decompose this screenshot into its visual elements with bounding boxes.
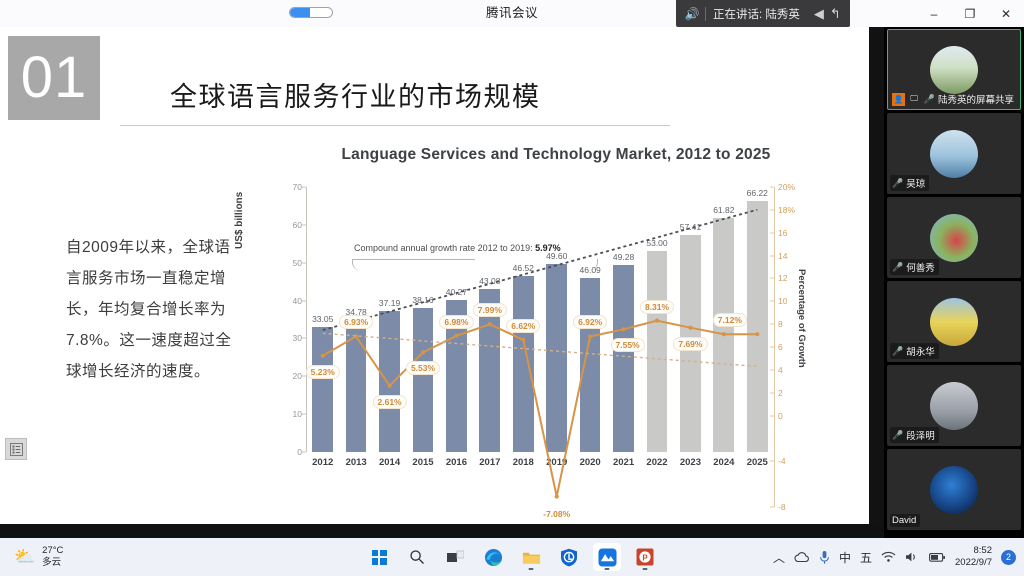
growth-label-2020: 6.92% [573,315,607,329]
chart-plot-area: 010203040506070 -8-4024681012141618%20% … [306,187,774,452]
clock-date: 2022/9/7 [955,557,992,569]
chart-title: Language Services and Technology Market,… [296,146,816,164]
growth-point-2015 [421,350,425,354]
growth-label-2022: 8.31% [640,300,674,314]
stage-bottom-strip [0,524,884,538]
powerpoint-icon: P [636,548,654,566]
cloud-icon[interactable] [794,551,810,563]
participant-name-badge: 🎤何善秀 [890,259,939,275]
growth-label-2018: 6.62% [506,319,540,333]
titlebar-progress [289,7,333,18]
growth-point-2014 [387,384,391,388]
titlebar-progress-fill [290,8,310,17]
avatar [930,298,978,346]
growth-point-2020 [588,334,592,338]
growth-label-2012: 5.23% [306,365,340,379]
growth-point-2022 [655,319,659,323]
microphone-active-icon: 🔊 [682,5,702,23]
microphone-muted-icon: 🎤 [892,178,903,189]
svg-text:P: P [642,553,648,562]
microphone-muted-icon: 🎤 [892,262,903,273]
speaker-glyph [905,551,920,563]
ime-mode-indicator[interactable]: 中 [839,549,851,566]
y-axis-label-right: Percentage of Growth [796,269,807,368]
running-indicator [529,568,534,570]
notification-badge[interactable]: 2 [1001,550,1016,565]
growth-label-2014: 2.61% [373,395,407,409]
growth-point-2019 [555,494,559,498]
folder-icon [522,549,541,566]
shield-icon [560,548,578,567]
speaker-nav-arrows[interactable]: ◀ ↰ [814,7,850,21]
avatar [930,46,978,94]
microphone-glyph [819,550,830,565]
powerpoint-button[interactable]: P [631,543,659,571]
ime-extra-indicator[interactable]: 五 [860,549,872,566]
participant-tile-0[interactable]: 👤🖵🎤陆秀英的屏幕共享 [887,29,1021,110]
right-tick-label: 12 [778,273,787,283]
avatar [930,466,978,514]
growth-label-2023: 7.69% [673,337,707,351]
slide-title: 全球语言服务行业的市场规模 [170,75,541,114]
microphone-icon: 🎤 [924,94,935,105]
slide-list-toggle-button[interactable] [5,438,27,460]
partly-cloudy-icon: ⛅ [14,547,35,567]
taskbar-app-buttons: P [365,543,659,571]
y-tick-label: 40 [293,296,302,306]
tray-expand-chevron-icon[interactable]: ︿ [773,549,785,566]
stage-side-strip [869,27,884,524]
y-tick-label: 50 [293,258,302,268]
app-title: 腾讯会议 [0,0,1024,27]
market-size-chart: Language Services and Technology Market,… [262,139,822,524]
presentation-slide: 01 全球语言服务行业的市场规模 自2009年以来，全球语言服务市场一直稳定增长… [0,27,869,524]
participant-tile-5[interactable]: David [887,449,1021,530]
cagr-brace [352,259,598,271]
growth-point-2018 [521,338,525,342]
cagr-value: 5.97% [535,243,561,253]
section-number-badge: 01 [8,36,100,120]
slide-body-text: 自2009年以来，全球语言服务市场一直稳定增长，年均复合增长率为7.8%。这一速… [66,232,246,387]
speaker-icon[interactable] [905,551,920,563]
security-button[interactable] [555,543,583,571]
growth-point-2012 [321,354,325,358]
growth-label-2024: 7.12% [713,313,747,327]
screen-root: 腾讯会议 🔊 正在讲话: 陆秀英 ◀ ↰ – ❐ ✕ 01 全球语言服务行业的市… [0,0,1024,576]
search-icon [409,549,425,565]
right-tick-label: -4 [778,456,786,466]
right-tick-label: 10 [778,296,787,306]
growth-label-2015: 5.53% [406,361,440,375]
participant-tile-1[interactable]: 🎤吴琼 [887,113,1021,194]
microphone-muted-icon: 🎤 [892,430,903,441]
growth-point-2024 [722,332,726,336]
shared-screen-stage: 01 全球语言服务行业的市场规模 自2009年以来，全球语言服务市场一直稳定增长… [0,27,884,538]
person-icon: 👤 [892,93,905,106]
growth-label-2013: 6.93% [339,315,373,329]
right-tick-label: 0 [778,411,783,421]
participant-tile-4[interactable]: 🎤段泽明 [887,365,1021,446]
battery-glyph [929,552,946,563]
file-explorer-button[interactable] [517,543,545,571]
meeting-icon [598,548,617,567]
running-indicator [643,568,648,570]
right-tick-label: 8 [778,319,783,329]
participant-name-badge: 🎤胡永华 [890,343,939,359]
battery-icon[interactable] [929,552,946,563]
speaking-label: 正在讲话: 陆秀英 [713,6,800,22]
participant-name: 何善秀 [906,260,935,274]
participant-tile-3[interactable]: 🎤胡永华 [887,281,1021,362]
wifi-glyph [881,551,896,563]
growth-label-2016: 6.98% [439,315,473,329]
y-tick-label: 30 [293,333,302,343]
growth-point-2023 [688,326,692,330]
start-button[interactable] [365,543,393,571]
chevron-right-icon[interactable]: ↰ [830,7,844,21]
right-tick-label: 2 [778,388,783,398]
participant-name: David [892,515,916,526]
avatar [930,214,978,262]
speaking-indicator: 🔊 正在讲话: 陆秀英 ◀ ↰ [676,0,850,27]
y-tick-label: 10 [293,409,302,419]
right-tick-label: 6 [778,342,783,352]
avatar [930,382,978,430]
search-button[interactable] [403,543,431,571]
participant-name: 段泽明 [906,428,935,442]
taskbar-weather-widget[interactable]: ⛅ 27°C 多云 [14,545,63,569]
participant-name-badge: 🎤吴琼 [890,175,929,191]
chevron-left-icon[interactable]: ◀ [814,7,828,21]
task-view-icon [447,550,464,565]
wifi-icon[interactable] [881,551,896,563]
window-controls: – ❐ ✕ [916,0,1024,27]
microphone-icon[interactable] [819,550,830,565]
close-button[interactable]: ✕ [988,0,1024,27]
right-tick-label: 14 [778,251,787,261]
edge-icon [484,548,503,567]
app-titlebar: 腾讯会议 🔊 正在讲话: 陆秀英 ◀ ↰ – ❐ ✕ [0,0,1024,27]
growth-label-2019: -7.08% [539,508,574,520]
growth-point-2025 [755,332,759,336]
microphone-muted-icon: 🎤 [892,346,903,357]
weather-temperature: 27°C [42,545,63,557]
right-tick-label: 4 [778,365,783,375]
clock-time: 8:52 [955,545,992,557]
weather-description: 多云 [42,557,63,569]
participant-name-badge: 👤🖵🎤陆秀英的屏幕共享 [890,91,1018,107]
tencent-meeting-button[interactable] [593,543,621,571]
minimize-button[interactable]: – [916,0,952,27]
maximize-button[interactable]: ❐ [952,0,988,27]
windows-logo-icon [372,550,387,565]
participant-name: 陆秀英的屏幕共享 [938,92,1014,106]
growth-label-2017: 7.99% [473,303,507,317]
participant-name-badge: 🎤段泽明 [890,427,939,443]
participant-name-badge: David [890,514,920,527]
right-tick-label: 16 [778,228,787,238]
running-indicator [605,568,610,570]
title-divider [120,125,670,126]
participant-name: 吴琼 [906,176,925,190]
monitor-icon: 🖵 [907,93,920,106]
growth-point-2016 [454,334,458,338]
y-axis-right [774,187,775,507]
divider [705,7,706,21]
cagr-text: Compound annual growth rate 2012 to 2019… [354,243,533,253]
participant-rail[interactable]: 👤🖵🎤陆秀英的屏幕共享🎤吴琼🎤何善秀🎤胡永华🎤段泽明David [884,27,1024,538]
edge-button[interactable] [479,543,507,571]
right-tick-label: -8 [778,502,786,512]
avatar [930,130,978,178]
participant-name: 胡永华 [906,344,935,358]
y-axis-label-left: US$ billions [234,192,245,249]
y-tick-label: 70 [293,182,302,192]
y-tick-label: 20 [293,371,302,381]
list-menu-icon [10,443,23,456]
y-tick-label: 60 [293,220,302,230]
taskbar-system-tray: ︿ 中 五 [773,545,1016,569]
cagr-annotation: Compound annual growth rate 2012 to 2019… [354,243,561,253]
growth-point-2021 [621,327,625,331]
right-tick-label: 18% [778,205,795,215]
windows-taskbar: ⛅ 27°C 多云 [0,538,1024,576]
cloud-glyph [794,551,810,563]
participant-tile-2[interactable]: 🎤何善秀 [887,197,1021,278]
task-view-button[interactable] [441,543,469,571]
growth-point-2017 [488,322,492,326]
growth-label-2021: 7.55% [611,338,645,352]
taskbar-clock[interactable]: 8:52 2022/9/7 [955,545,992,569]
right-tick-label: 20% [778,182,795,192]
